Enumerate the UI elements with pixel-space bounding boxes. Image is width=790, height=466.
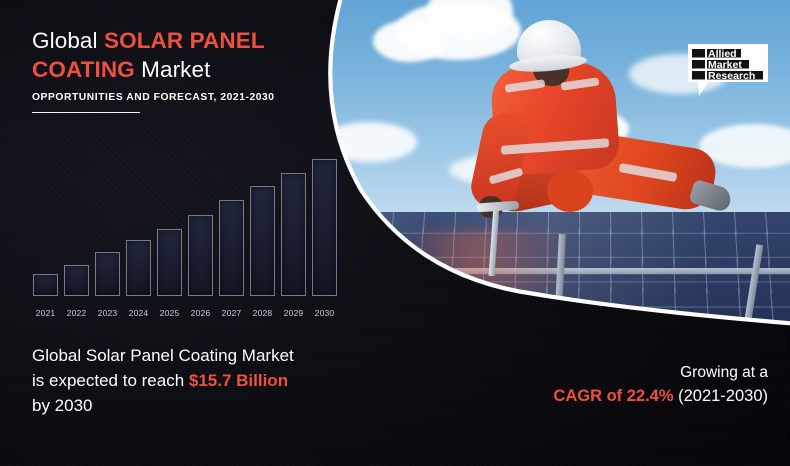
x-tick-label-2021: 2021	[30, 308, 61, 318]
bar-2021	[33, 274, 58, 296]
market-forecast-bar-chart: 2021202220232024202520262027202820292030	[30, 150, 340, 320]
bar-2030	[312, 159, 337, 296]
cagr-period: (2021-2030)	[674, 387, 768, 405]
bar-2025	[157, 229, 182, 296]
title-suffix: Market	[135, 57, 211, 82]
worker-knee	[547, 170, 593, 212]
x-tick-label-2024: 2024	[123, 308, 154, 318]
bar-rect	[188, 215, 213, 296]
cloud	[373, 20, 447, 62]
x-tick-label-2028: 2028	[247, 308, 278, 318]
x-tick-label-2022: 2022	[61, 308, 92, 318]
x-tick-label-2025: 2025	[154, 308, 185, 318]
x-tick-label-2026: 2026	[185, 308, 216, 318]
market-value-amount: $15.7 Billion	[189, 371, 288, 390]
statement-line-1: Global Solar Panel Coating Market	[32, 346, 294, 365]
page-title: Global SOLAR PANEL COATING Market	[32, 26, 322, 85]
title-highlight-1: SOLAR PANEL	[104, 28, 265, 53]
bar-2029	[281, 173, 306, 296]
svg-text:Research: Research	[708, 70, 755, 82]
x-tick-label-2029: 2029	[278, 308, 309, 318]
bar-rect	[312, 159, 337, 296]
cagr-value-row: CAGR of 22.4% (2021-2030)	[438, 384, 768, 409]
bar-2024	[126, 240, 151, 296]
bar-rect	[95, 252, 120, 296]
title-divider	[32, 112, 140, 113]
bar-rect	[33, 274, 58, 296]
bar-2027	[219, 200, 244, 296]
title-highlight-2: COATING	[32, 57, 135, 82]
market-value-statement: Global Solar Panel Coating Market is exp…	[32, 344, 354, 418]
bar-rect	[157, 229, 182, 296]
statement-line-3: by 2030	[32, 396, 93, 415]
bar-rect	[219, 200, 244, 296]
x-axis-labels: 2021202220232024202520262027202820292030	[30, 298, 340, 320]
bar-rect	[281, 173, 306, 296]
x-tick-label-2023: 2023	[92, 308, 123, 318]
bar-2028	[250, 186, 275, 296]
cagr-callout: Growing at a CAGR of 22.4% (2021-2030)	[438, 362, 768, 409]
market-infographic: Global SOLAR PANEL COATING Market OPPORT…	[0, 0, 790, 466]
worker-figure	[469, 20, 719, 250]
allied-market-research-logo: Allied Market Research	[686, 42, 770, 100]
cagr-intro: Growing at a	[438, 362, 768, 384]
title-prefix: Global	[32, 28, 104, 53]
cagr-rate: CAGR of 22.4%	[553, 387, 673, 405]
bar-2026	[188, 215, 213, 296]
statement-line-2-prefix: is expected to reach	[32, 371, 189, 390]
x-tick-label-2027: 2027	[216, 308, 247, 318]
subtitle: OPPORTUNITIES AND FORECAST, 2021-2030	[32, 92, 275, 103]
bar-2022	[64, 265, 89, 297]
bar-2023	[95, 252, 120, 296]
bar-rect	[64, 265, 89, 297]
bar-rect	[250, 186, 275, 296]
bar-series	[30, 150, 340, 296]
x-tick-label-2030: 2030	[309, 308, 340, 318]
bar-rect	[126, 240, 151, 296]
